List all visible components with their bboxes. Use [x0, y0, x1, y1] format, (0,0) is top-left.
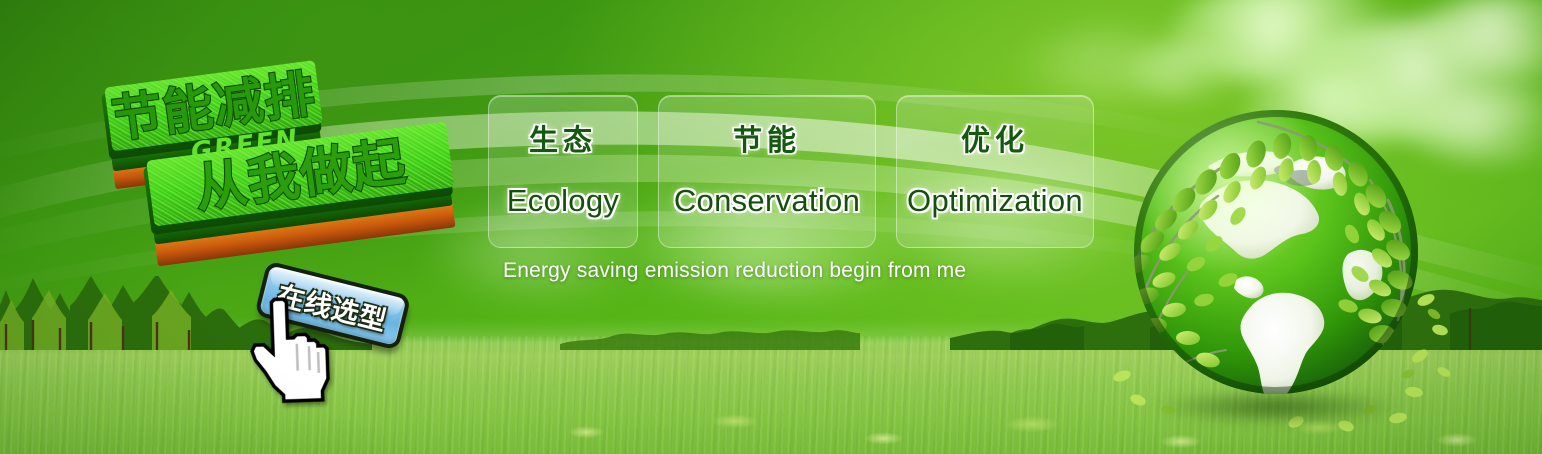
banner-vignette	[0, 0, 1542, 454]
eco-banner: 节能减排 GREEN 从我做起 在线选型	[0, 0, 1542, 454]
